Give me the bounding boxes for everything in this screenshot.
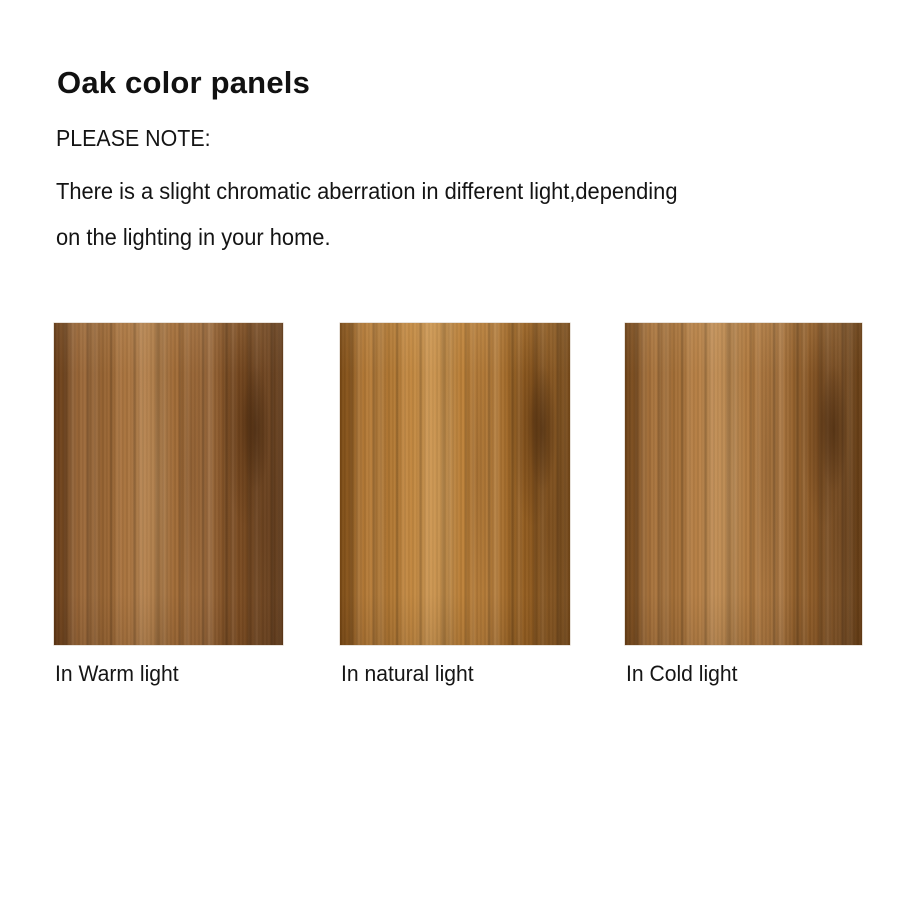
wood-panel-shading [54, 323, 283, 645]
swatch-group-cold-light: In Cold light [625, 323, 862, 645]
wood-grain-band-texture [54, 323, 283, 645]
wood-grain-fine-texture [54, 323, 283, 645]
wood-grain-band-texture [340, 323, 570, 645]
oak-panel-natural-light[interactable] [340, 323, 570, 645]
wood-grain-cathedral-figure [625, 323, 862, 645]
wood-grain-fine-texture [340, 323, 570, 645]
swatch-caption-natural-light: In natural light [341, 660, 474, 688]
wood-grain-cathedral-figure [54, 323, 283, 645]
color-swatch-row: In Warm light In natural light In Cold l… [0, 0, 900, 900]
oak-panel-cold-light[interactable] [625, 323, 862, 645]
wood-grain-cathedral-figure [340, 323, 570, 645]
wood-grain-fine-texture [625, 323, 862, 645]
swatch-group-warm-light: In Warm light [54, 323, 283, 645]
swatch-group-natural-light: In natural light [340, 323, 570, 645]
wood-panel-shading [625, 323, 862, 645]
wood-grain-band-texture [625, 323, 862, 645]
swatch-caption-warm-light: In Warm light [55, 660, 179, 688]
wood-panel-shading [340, 323, 570, 645]
oak-panel-warm-light[interactable] [54, 323, 283, 645]
swatch-caption-cold-light: In Cold light [626, 660, 738, 688]
product-info-page: Oak color panels PLEASE NOTE: There is a… [0, 0, 900, 900]
